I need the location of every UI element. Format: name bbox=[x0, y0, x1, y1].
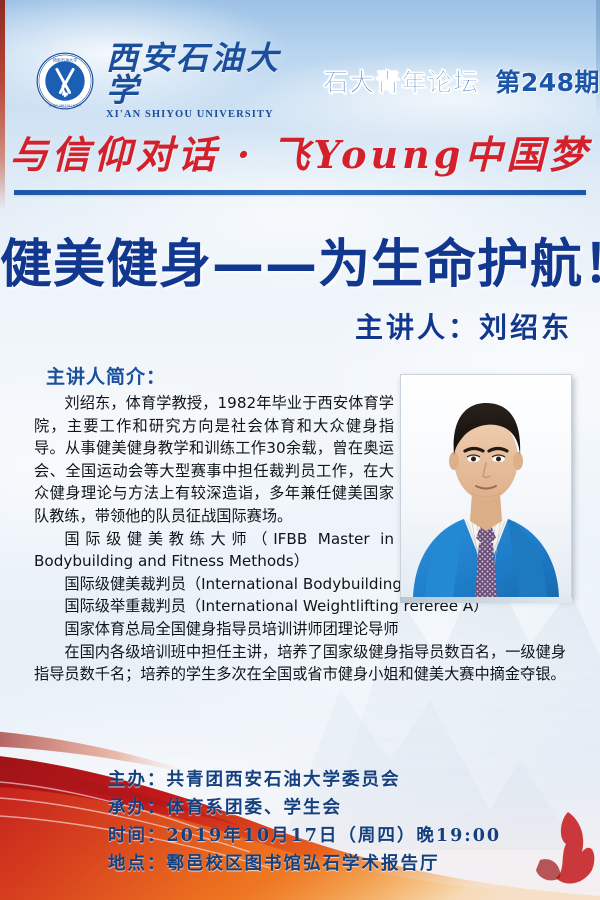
event-organizer: 主办：共青团西安石油大学委员会 bbox=[108, 766, 501, 794]
university-name-cn: 西安石油大学 bbox=[106, 42, 301, 106]
bio-paragraph: 在国内各级培训班中担任主讲，培养了国家级健身指导员数百名，一级健身指导员数千名；… bbox=[34, 641, 566, 686]
forum-issue-number: 第248期 bbox=[495, 63, 600, 99]
header-divider bbox=[14, 190, 586, 195]
bio-heading: 主讲人简介： bbox=[46, 362, 166, 389]
poster-root: 西安石油大学 XI'AN SHIYOU UNIV 西安石油大学 XI'AN SH… bbox=[0, 0, 600, 900]
bio-paragraph: 刘绍东，体育学教授，1982年毕业于西安体育学院，主要工作和研究方向是社会体育和… bbox=[34, 392, 394, 528]
poster-header: 西安石油大学 XI'AN SHIYOU UNIV 西安石油大学 XI'AN SH… bbox=[0, 44, 600, 118]
slogan-text: 与信仰对话 · 飞Young中国梦 bbox=[0, 124, 600, 179]
photo-base-bar bbox=[400, 597, 572, 603]
bio-paragraph: 国际级健美教练大师（IFBB Master in Bodybuilding an… bbox=[34, 528, 394, 573]
svg-text:西安石油大学: 西安石油大学 bbox=[53, 56, 77, 62]
page-title: 健美健身——为生命护航！ bbox=[0, 222, 600, 297]
event-time: 时间：2019年10月17日（周四）晚19:00 bbox=[108, 822, 501, 850]
university-crest-icon: 西安石油大学 XI'AN SHIYOU UNIV bbox=[36, 52, 94, 110]
speaker-name-line: 主讲人：刘绍东 bbox=[355, 306, 572, 346]
university-name-block: 西安石油大学 XI'AN SHIYOU UNIVERSITY bbox=[106, 42, 301, 120]
forum-label: 石大青年论坛 bbox=[323, 63, 479, 99]
event-co-organizer: 承办：体育系团委、学生会 bbox=[108, 794, 501, 822]
event-location: 地点：鄠邑校区图书馆弘石学术报告厅 bbox=[108, 850, 501, 878]
event-details: 主办：共青团西安石油大学委员会 承办：体育系团委、学生会 时间：2019年10月… bbox=[108, 766, 501, 878]
speaker-portrait-photo bbox=[400, 374, 572, 598]
svg-text:XI'AN SHIYOU UNIV: XI'AN SHIYOU UNIV bbox=[49, 104, 82, 108]
bio-paragraph: 国家体育总局全国健身指导员培训讲师团理论导师 bbox=[34, 618, 566, 641]
university-name-en: XI'AN SHIYOU UNIVERSITY bbox=[106, 109, 301, 120]
